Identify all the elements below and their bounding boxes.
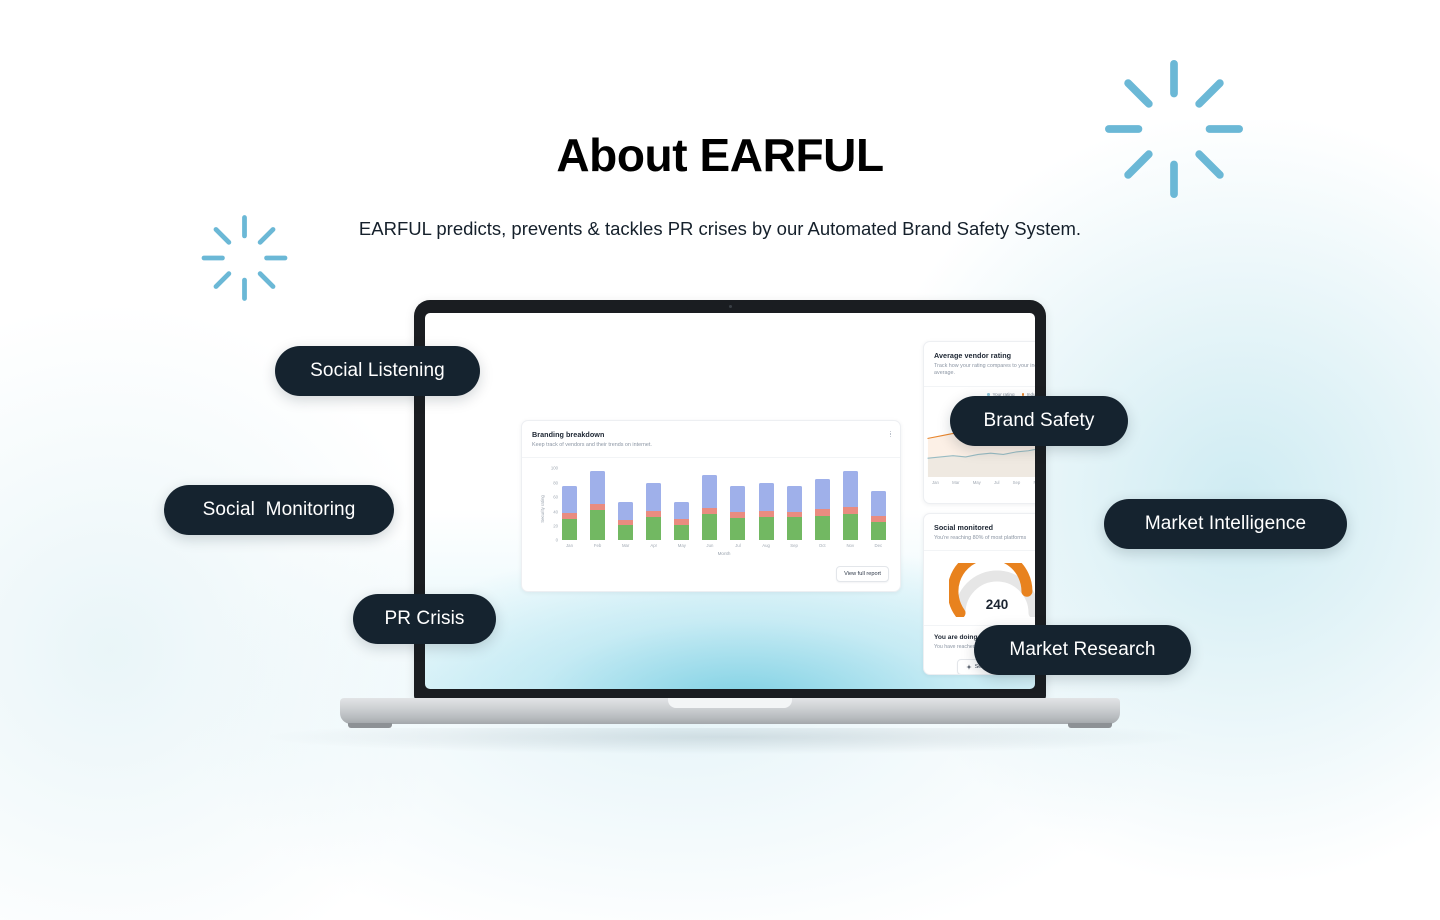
bar-chart-xtick: Nov: [843, 543, 858, 548]
bar-segment: [815, 479, 830, 509]
bar-chart-bars: [562, 468, 886, 540]
pill-market-intelligence[interactable]: Market Intelligence: [1104, 499, 1347, 549]
card-subtitle: Keep track of vendors and their trends o…: [532, 442, 890, 450]
bar-chart-xtick: Apr: [646, 543, 661, 548]
bar-chart-ytick: 80: [544, 480, 558, 485]
camera-icon: [729, 305, 732, 308]
bar-chart-xtick: Sep: [787, 543, 802, 548]
bar-column[interactable]: [674, 468, 689, 540]
card-subtitle: Track how your rating compares to your i…: [934, 363, 1035, 379]
bar-segment: [702, 475, 717, 508]
bar-column[interactable]: [702, 468, 717, 540]
bar-segment: [562, 519, 577, 541]
line-chart-xtick: Nov: [1033, 480, 1035, 485]
bar-chart-xtick: Oct: [815, 543, 830, 548]
bar-chart: Security rating 020406080100 JanFebMarAp…: [522, 458, 900, 560]
bar-segment: [562, 486, 577, 513]
bar-chart-xtick: Jul: [730, 543, 745, 548]
bar-segment: [787, 517, 802, 540]
line-chart-xtick: Jan: [932, 480, 939, 485]
bar-column[interactable]: [618, 468, 633, 540]
bar-column[interactable]: [590, 468, 605, 540]
page-title: About EARFUL: [0, 128, 1440, 182]
bar-segment: [871, 491, 886, 516]
bar-column[interactable]: [646, 468, 661, 540]
bar-column[interactable]: [815, 468, 830, 540]
bar-chart-xtick: Aug: [759, 543, 774, 548]
card-header: Branding breakdown Keep track of vendors…: [522, 421, 900, 458]
bar-chart-ytick: 20: [544, 523, 558, 528]
laptop-shadow: [270, 728, 1190, 754]
gauge-section: 10% 240: [924, 551, 1035, 621]
bar-segment: [590, 510, 605, 540]
bar-chart-xtick: May: [674, 543, 689, 548]
bar-segment: [674, 502, 689, 519]
kebab-menu-icon[interactable]: [890, 431, 891, 437]
line-chart-xtick: Sep: [1013, 480, 1021, 485]
pill-social-monitoring[interactable]: Social Monitoring: [164, 485, 394, 535]
bar-chart-ytick: 0: [544, 538, 558, 543]
card-subtitle: You're reaching 80% of most platforms: [934, 535, 1035, 543]
card-header: Social monitored You're reaching 80% of …: [924, 514, 1035, 551]
bar-segment: [759, 483, 774, 511]
bar-segment: [871, 522, 886, 541]
line-chart-xtick: Mar: [952, 480, 959, 485]
bar-segment: [843, 514, 858, 541]
bar-segment: [674, 525, 689, 541]
bar-segment: [618, 502, 633, 520]
card-footer: View full report: [836, 562, 889, 582]
laptop-foot-left: [348, 723, 392, 728]
laptop-screen: Branding breakdown Keep track of vendors…: [425, 313, 1035, 689]
bar-chart-ytick: 40: [544, 509, 558, 514]
bar-column[interactable]: [759, 468, 774, 540]
bar-column[interactable]: [843, 468, 858, 540]
laptop-foot-right: [1068, 723, 1112, 728]
laptop-base-notch: [668, 698, 792, 708]
pill-social-listening[interactable]: Social Listening: [275, 346, 480, 396]
bar-chart-xtick: Jun: [702, 543, 717, 548]
pill-market-research[interactable]: Market Research: [974, 625, 1191, 675]
bar-chart-xtick: Dec: [871, 543, 886, 548]
laptop-base: [340, 698, 1120, 724]
view-full-report-button[interactable]: View full report: [836, 566, 889, 582]
bar-chart-ytick: 100: [544, 466, 558, 471]
bar-column[interactable]: [730, 468, 745, 540]
sparkle-small-icon: [966, 664, 972, 670]
card-header: Average vendor rating Track how your rat…: [924, 342, 1035, 387]
pill-brand-safety[interactable]: Brand Safety: [950, 396, 1128, 446]
bar-column[interactable]: [871, 468, 886, 540]
card-title: Social monitored: [934, 523, 1035, 532]
bar-segment: [759, 517, 774, 541]
card-title: Branding breakdown: [532, 430, 890, 439]
bar-chart-xlabel: Month: [560, 551, 888, 556]
bar-chart-plot: 020406080100: [560, 468, 888, 540]
bar-segment: [730, 518, 745, 540]
bar-segment: [843, 507, 858, 514]
bar-column[interactable]: [562, 468, 577, 540]
line-chart-xtick: Jul: [994, 480, 1000, 485]
bar-segment: [646, 483, 661, 511]
bar-chart-xtick: Feb: [590, 543, 605, 548]
bar-segment: [730, 486, 745, 512]
bar-chart-xtick: Jan: [562, 543, 577, 548]
bar-chart-xtick: Mar: [618, 543, 633, 548]
bar-segment: [646, 517, 661, 541]
line-chart-xtick: May: [973, 480, 981, 485]
card-title: Average vendor rating: [934, 351, 1035, 360]
bar-segment: [702, 514, 717, 540]
line-chart-xticks: JanMarMayJulSepNovDec: [924, 477, 1035, 493]
bar-segment: [618, 525, 633, 541]
bar-segment: [843, 471, 858, 506]
pill-pr-crisis[interactable]: PR Crisis: [353, 594, 496, 644]
bar-segment: [590, 471, 605, 503]
bar-chart-ytick: 60: [544, 495, 558, 500]
laptop-lid: Branding breakdown Keep track of vendors…: [414, 300, 1046, 700]
bar-segment: [815, 516, 830, 540]
page-subtitle: EARFUL predicts, prevents & tackles PR c…: [0, 218, 1440, 240]
bar-chart-xticks: JanFebMarAprMayJunJulAugSepOctNovDec: [560, 543, 888, 548]
gauge-value: 240: [924, 597, 1035, 612]
laptop-notch: [687, 300, 773, 313]
bar-column[interactable]: [787, 468, 802, 540]
bar-segment: [787, 486, 802, 511]
branding-breakdown-card[interactable]: Branding breakdown Keep track of vendors…: [521, 420, 901, 592]
